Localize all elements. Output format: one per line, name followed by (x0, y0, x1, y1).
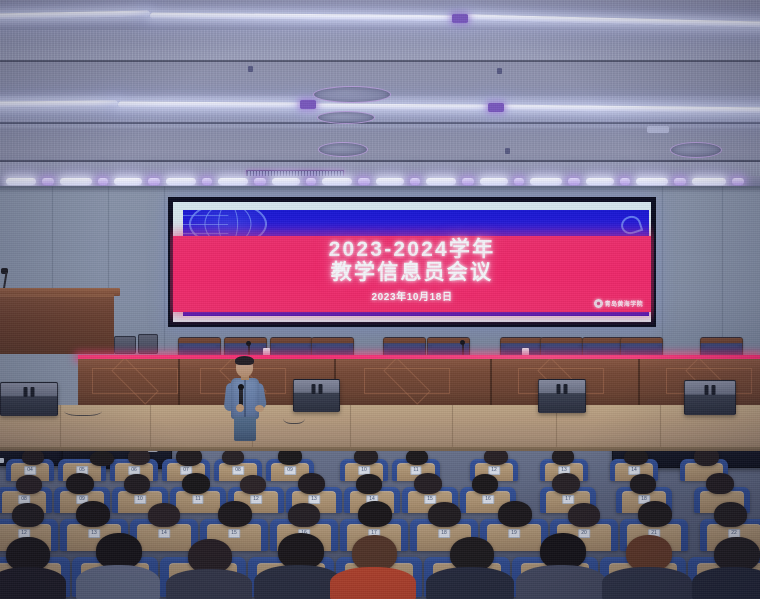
panel-chair (311, 337, 354, 357)
acoustic-ceiling (0, 0, 760, 186)
audience-shoulders (692, 567, 760, 599)
presenter-left-hand (236, 404, 244, 412)
institution-logo-text: 青岛黄海学院 (605, 299, 643, 308)
seat-number: 19 (508, 529, 520, 538)
round-ceiling-vent (670, 142, 722, 158)
audience-head (96, 533, 142, 569)
monitor-cable (64, 404, 102, 416)
audience-head (354, 451, 378, 465)
side-equipment-box (138, 334, 158, 354)
seat-number: 13 (88, 529, 100, 538)
microphone-head-icon (238, 384, 244, 390)
audience-head (626, 535, 672, 571)
seated-audience: 04 05 06 07 08 09 10 11 12 13 14 08 09 1… (0, 451, 760, 599)
audience-shoulders (516, 565, 606, 599)
audience-head (714, 537, 760, 571)
swoosh-icon (619, 213, 644, 236)
audience-head (484, 451, 508, 465)
audience-head (414, 473, 442, 494)
presenter (219, 357, 269, 441)
panel-chair (178, 337, 221, 357)
desk-microphone-head-icon (246, 341, 251, 346)
audience-head (694, 451, 719, 466)
audience-head (472, 474, 498, 494)
seat-number: 11 (192, 495, 203, 504)
panel-chair (270, 337, 313, 357)
desk-microphone (462, 344, 464, 355)
monitor-cable (283, 410, 305, 424)
seat-number: 18 (438, 529, 450, 538)
seat-number: 15 (424, 495, 436, 504)
audience-head (188, 539, 232, 573)
audience-head (714, 502, 747, 527)
institution-logo: 青岛黄海学院 (594, 299, 643, 308)
audience-head (624, 451, 648, 465)
slide-date: 2023年10月18日 (371, 288, 452, 303)
strip-light-connector (300, 100, 316, 109)
audience-shoulders (602, 567, 692, 599)
audience-head (16, 475, 42, 494)
panel-chair (540, 337, 583, 357)
seal-icon (594, 299, 603, 308)
panel-chair (700, 337, 743, 357)
stage-floor-monitor (293, 379, 340, 412)
panel-chair (383, 337, 426, 357)
ceiling-seam (0, 160, 760, 162)
seat-number: 12 (488, 466, 500, 475)
side-equipment-box (114, 336, 136, 354)
led-presentation-screen[interactable]: 2023-2024学年 教学信息员会议 2023年10月18日 青岛黄海学院 (168, 197, 656, 327)
audience-head (148, 503, 180, 527)
presenter-hair (235, 356, 254, 365)
ceiling-band (0, 128, 760, 162)
ceiling-seam (0, 122, 760, 124)
round-ceiling-vent (318, 142, 368, 157)
audience-shoulders (254, 565, 342, 599)
stage-floor (0, 405, 760, 451)
wall-panel-seam (164, 186, 165, 351)
audience-head (638, 501, 672, 527)
audience-shoulders (426, 567, 514, 599)
seat-number: 12 (250, 495, 262, 504)
seat-number: 20 (578, 529, 590, 538)
audience-head (568, 503, 600, 527)
seat-number: 14 (158, 529, 170, 538)
auditorium-photo: 2023-2024学年 教学信息员会议 2023年10月18日 青岛黄海学院 (0, 0, 760, 599)
audience-head (278, 533, 324, 569)
ceiling-sprinkler (248, 66, 253, 72)
seat-number: 04 (24, 466, 36, 475)
audience-head (22, 451, 44, 465)
audience-head (288, 503, 320, 527)
seat-number: 11 (410, 466, 421, 475)
slide-title-line-2: 教学信息员会议 (331, 262, 493, 284)
audience-head (706, 473, 734, 494)
audience-head (66, 473, 94, 494)
ceiling-strip-light (118, 102, 308, 109)
slide-title-line-1: 2023-2024学年 (329, 239, 496, 261)
panel-chair (620, 337, 663, 357)
audience-shoulders (166, 569, 252, 599)
audience-head (552, 451, 574, 465)
wall-panel-seam (662, 186, 663, 351)
audience-head (428, 502, 461, 527)
audience-head (218, 501, 252, 527)
audience-head (358, 501, 392, 527)
strip-light-connector (488, 103, 504, 112)
ceiling-sprinkler (505, 148, 510, 154)
wooden-lectern (0, 294, 114, 354)
stage-floor-monitor (538, 379, 586, 413)
audience-head (498, 501, 532, 527)
audience-head (278, 451, 302, 465)
seat-number: 09 (284, 466, 296, 475)
seat-number: 15 (228, 529, 240, 538)
audience-head (540, 533, 586, 569)
stage-floor-monitor (0, 382, 58, 416)
seat-number: 13 (308, 495, 320, 504)
strip-light-connector (452, 14, 468, 23)
audience-shoulders (0, 567, 66, 599)
presenter-shirt-placket (244, 380, 246, 417)
audience-shoulders (330, 567, 416, 599)
wall-top-shadow (0, 186, 760, 193)
round-ceiling-vent (317, 111, 375, 124)
audience-head (182, 473, 210, 494)
audience-head (240, 475, 266, 494)
audience-head (124, 474, 150, 494)
seat-number: 17 (562, 495, 574, 504)
wall-panel-seam (722, 186, 723, 351)
seat-number: 08 (232, 466, 244, 475)
seat-number: 14 (628, 466, 640, 475)
ceiling-projector-mount (647, 126, 669, 133)
audience-shoulders (76, 565, 160, 599)
stage-floor-monitor (684, 380, 736, 415)
audience-head (406, 451, 428, 465)
ceiling-seam (0, 60, 760, 62)
slide-title-group: 2023-2024学年 教学信息员会议 2023年10月18日 青岛黄海学院 (173, 236, 651, 312)
audience-head (176, 451, 202, 466)
audience-head (222, 451, 244, 465)
ceiling-sprinkler (497, 68, 502, 74)
audience-head (128, 451, 150, 465)
audience-head (12, 503, 44, 527)
desk-microphone-head-icon (460, 340, 465, 345)
audience-head (76, 501, 110, 527)
audience-head (450, 537, 494, 571)
round-ceiling-vent (313, 86, 391, 103)
panel-desk (78, 359, 760, 405)
presenter-trousers (234, 417, 256, 441)
presenter-right-hand (255, 405, 264, 412)
seat-number: 16 (482, 495, 494, 504)
audience-head (90, 451, 114, 466)
audience-head (552, 473, 580, 494)
audience-head (6, 537, 50, 571)
audience-head (298, 473, 325, 494)
panel-chair (224, 337, 267, 357)
led-screen-surface: 2023-2024学年 教学信息员会议 2023年10月18日 青岛黄海学院 (173, 202, 651, 322)
seat-number: 10 (134, 495, 146, 504)
panel-chair (582, 337, 625, 357)
audience-head (356, 474, 382, 494)
audience-head (630, 474, 656, 494)
audience-head (352, 535, 397, 571)
